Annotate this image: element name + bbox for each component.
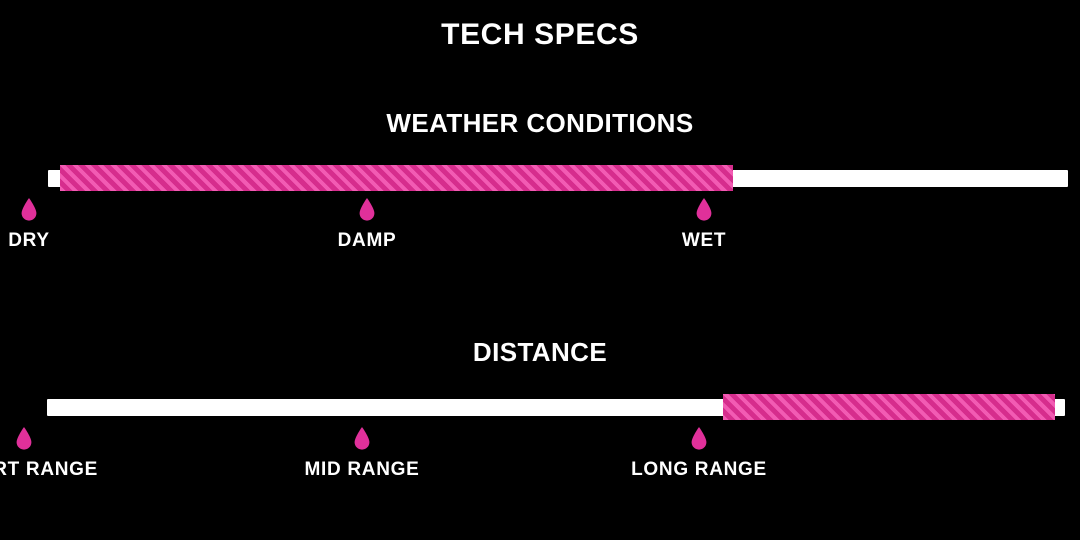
water-drop-icon (21, 198, 37, 221)
water-drop-icon (359, 198, 375, 221)
tech-specs-page: TECH SPECS WEATHER CONDITIONS DRY (0, 0, 1080, 540)
distance-marker-label: LONG RANGE (631, 458, 767, 482)
distance-track-fill (723, 394, 1055, 420)
water-drop-icon (691, 427, 707, 450)
distance-track[interactable]: SHORT RANGE MID RANGE (0, 383, 1080, 443)
distance-marker-label: MID RANGE (304, 458, 419, 482)
water-drop-icon (354, 427, 370, 450)
section-distance: DISTANCE SHORT RANGE (0, 335, 1080, 443)
distance-marker-label: SHORT RANGE (0, 458, 98, 482)
weather-marker-label: DRY (8, 229, 50, 253)
section-weather-conditions: WEATHER CONDITIONS DRY (0, 106, 1080, 214)
weather-conditions-track[interactable]: DRY DAMP (0, 154, 1080, 214)
section-title-weather-conditions: WEATHER CONDITIONS (0, 106, 1080, 140)
weather-marker-label: DAMP (338, 229, 397, 253)
weather-track-fill (60, 165, 733, 191)
distance-marker-long-range[interactable]: LONG RANGE (569, 427, 959, 482)
page-title: TECH SPECS (0, 16, 1080, 54)
distance-marker-mid-range[interactable]: MID RANGE (232, 427, 622, 482)
section-title-distance: DISTANCE (0, 335, 1080, 369)
water-drop-icon (696, 198, 712, 221)
weather-marker-wet[interactable]: WET (574, 198, 964, 253)
weather-marker-label: WET (682, 229, 726, 253)
water-drop-icon (16, 427, 32, 450)
weather-marker-damp[interactable]: DAMP (237, 198, 627, 253)
